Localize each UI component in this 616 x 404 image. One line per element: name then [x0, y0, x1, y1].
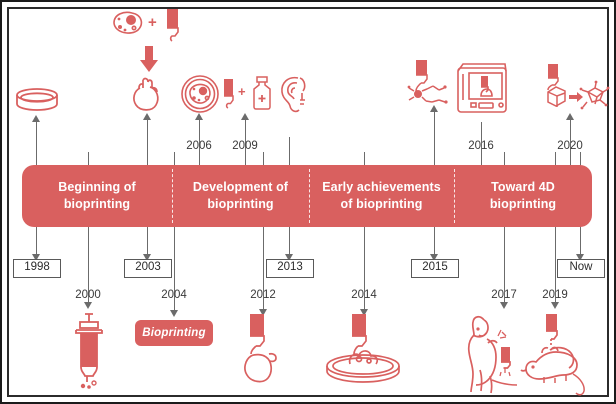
bioink-cartridge-icon-2009	[221, 78, 237, 110]
cell-in-dish-icon	[180, 74, 220, 114]
year-box-2003[interactable]: 2003	[124, 259, 172, 278]
arrowhead-2003-up	[143, 113, 151, 120]
year-box-2013[interactable]: 2013	[266, 259, 314, 278]
year-label-2006: 2006	[176, 141, 222, 153]
phase-band: Beginning of bioprinting Development of …	[22, 165, 592, 227]
phase-beginning-line2: bioprinting	[64, 196, 130, 213]
phase-development[interactable]: Development of bioprinting	[172, 165, 309, 227]
medicine-vial-icon	[250, 76, 274, 110]
arrowhead-2017-down	[500, 302, 508, 309]
printed-neuron-icon	[408, 60, 454, 110]
rat-icon	[464, 314, 522, 396]
phase-development-line1: Development of	[193, 179, 288, 196]
phase-beginning[interactable]: Beginning of bioprinting	[22, 165, 172, 227]
ear-icon	[278, 75, 308, 115]
year-label-2016: 2016	[458, 141, 504, 153]
bioprinter-machine-icon	[455, 60, 511, 116]
year-label-2000: 2000	[65, 290, 111, 302]
year-label-2020: 2020	[547, 141, 593, 153]
arrowhead-2006-up	[195, 113, 203, 120]
syringe-icon	[72, 312, 106, 390]
plus-icon-2009: +	[238, 84, 246, 99]
arrowhead-1998-up	[32, 115, 40, 122]
arrowhead-2000-down	[84, 302, 92, 309]
down-arrow-icon	[139, 46, 159, 72]
year-label-2017: 2017	[481, 290, 527, 302]
arrowhead-2009-up	[241, 113, 249, 120]
plus-icon: +	[148, 14, 157, 31]
phase-early-line1: Early achievements	[322, 179, 441, 196]
heart-icon	[130, 75, 164, 113]
phase-beginning-line1: Beginning of	[58, 179, 136, 196]
timeline-figure: Beginning of bioprinting Development of …	[0, 0, 616, 404]
printed-organoids-dish-icon	[322, 314, 404, 384]
printed-kidney-icon	[238, 314, 286, 384]
bioprinting-badge[interactable]: Bioprinting	[135, 320, 213, 346]
year-box-2015[interactable]: 2015	[411, 259, 459, 278]
cell-icon	[110, 10, 146, 36]
phase-toward4d-line2: bioprinting	[490, 196, 556, 213]
phase-toward-4d[interactable]: Toward 4D bioprinting	[454, 165, 592, 227]
year-label-2009: 2009	[222, 141, 268, 153]
year-box-1998[interactable]: 1998	[13, 259, 61, 278]
arrowhead-2019-down	[551, 302, 559, 309]
year-label-2004: 2004	[151, 290, 197, 302]
arrowhead-2020-up	[566, 113, 574, 120]
4d-shape-transform-icon	[542, 64, 608, 114]
phase-toward4d-line1: Toward 4D	[491, 179, 555, 196]
phase-development-line2: bioprinting	[207, 196, 273, 213]
year-label-2019: 2019	[532, 290, 578, 302]
phase-early-line2: of bioprinting	[341, 196, 423, 213]
phase-early-achievements[interactable]: Early achievements of bioprinting	[309, 165, 454, 227]
arrowhead-2004-down	[170, 310, 178, 317]
mouse-skin-print-icon	[520, 314, 596, 392]
year-label-2012: 2012	[240, 290, 286, 302]
petri-dish-icon	[14, 86, 60, 116]
year-box-now[interactable]: Now	[557, 259, 605, 278]
year-label-2014: 2014	[341, 290, 387, 302]
bioink-cartridge-icon-2003	[163, 8, 183, 42]
